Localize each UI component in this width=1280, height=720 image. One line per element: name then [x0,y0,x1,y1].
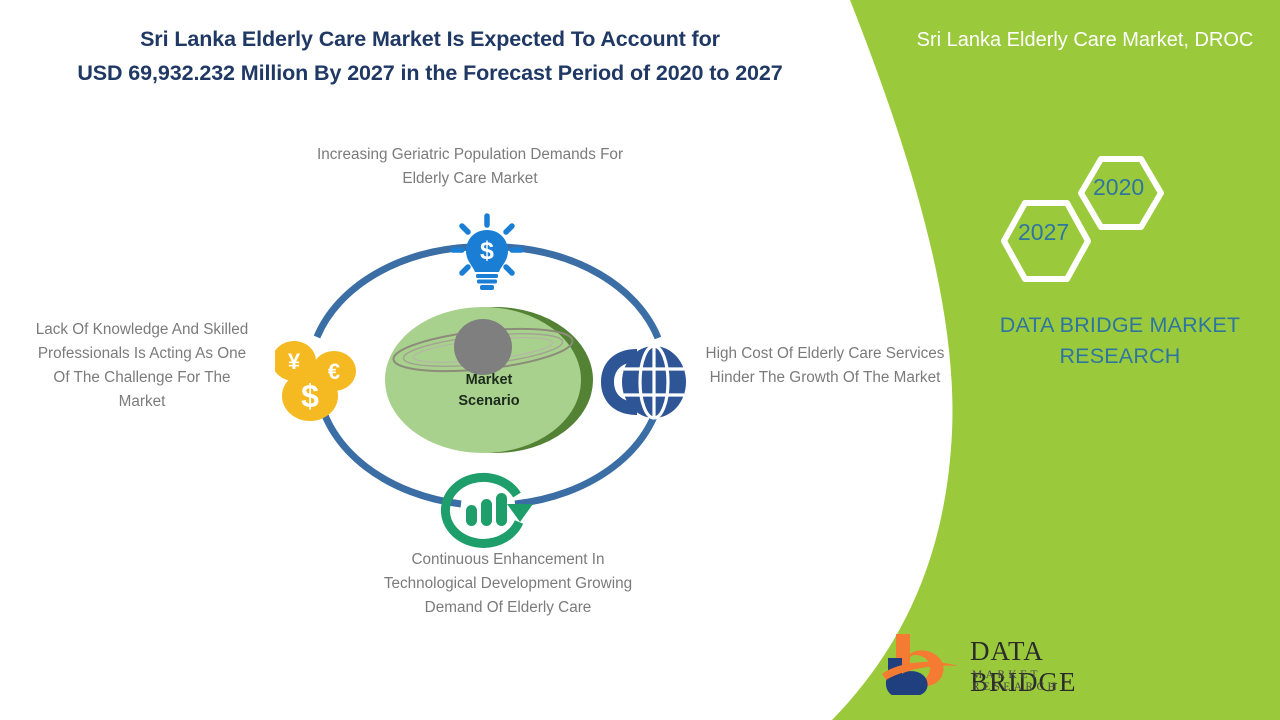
callout-opportunity-bottom: Continuous Enhancement In Technological … [372,548,644,620]
hexagon-outlines-icon [985,145,1185,285]
page-title-line1: Sri Lanka Elderly Care Market Is Expecte… [140,27,720,51]
logo-sub-text: MARKET RESEARCH [972,669,1105,693]
center-label-line2: Scenario [409,391,569,412]
page-title: Sri Lanka Elderly Care Market Is Expecte… [20,22,840,90]
hexagon-group: 2020 2027 [985,145,1185,285]
globe-cost-icon [601,346,686,418]
svg-text:$: $ [301,378,319,414]
company-logo: DATA BRIDGE MARKET RESEARCH [880,630,1105,700]
callout-challenge-left: Lack Of Knowledge And Skilled Profession… [28,318,256,414]
page-title-line2: USD 69,932.232 Million By 2027 in the Fo… [20,56,840,90]
hexagon-label-2027: 2027 [1018,219,1069,246]
data-bridge-b-mark-icon [880,630,970,696]
callout-restraint-right: High Cost Of Elderly Care Services Hinde… [700,342,950,390]
callout-driver-top: Increasing Geriatric Population Demands … [292,143,648,191]
lightbulb-dollar-icon: $ [453,216,521,290]
coins-currency-icon: ¥ € $ [275,341,356,421]
brand-name-text: DATA BRIDGE MARKET RESEARCH [960,310,1280,372]
hexagon-label-2020: 2020 [1093,174,1144,201]
svg-text:¥: ¥ [288,349,301,374]
panel-title: Sri Lanka Elderly Care Market, DROC [900,25,1270,55]
droc-diagram: $ ¥ € $ [275,195,705,555]
center-label-line1: Market [409,370,569,391]
infographic-canvas: Sri Lanka Elderly Care Market Is Expecte… [0,0,1280,720]
center-label: Market Scenario [409,370,569,412]
growth-cycle-chart-icon [445,477,533,543]
svg-text:$: $ [480,237,494,265]
